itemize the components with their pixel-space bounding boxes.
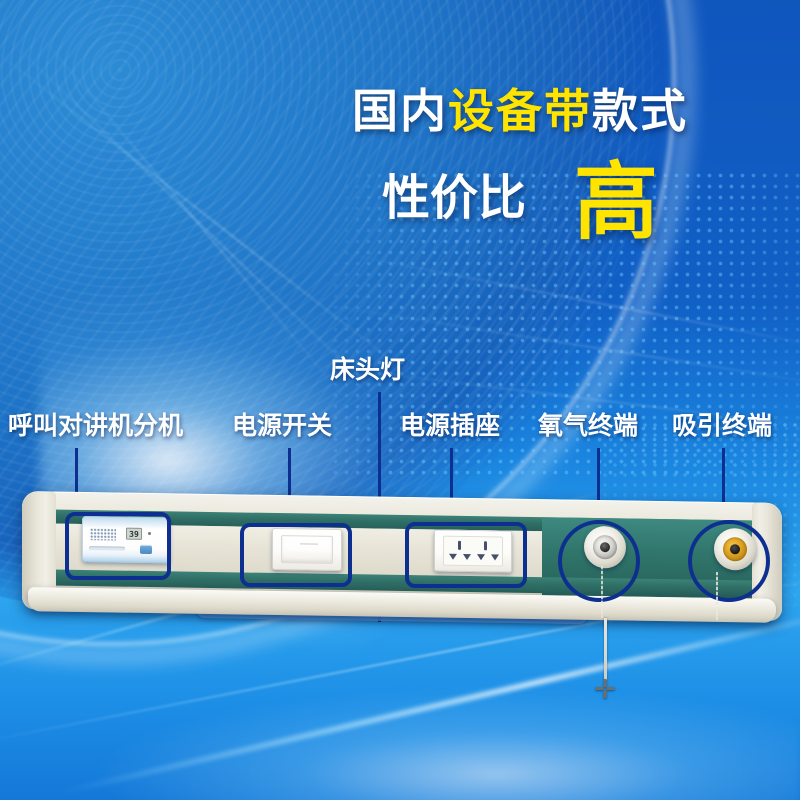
headline-line-2: 性价比 高 xyxy=(250,160,790,237)
poster-canvas: 国内设备带款式 性价比 高 呼叫对讲机分机 电源开关 床头灯 电源插座 氧气终端… xyxy=(0,0,800,800)
callout-switch: 电源开关 xyxy=(232,414,332,439)
callout-intercom: 呼叫对讲机分机 xyxy=(8,414,183,439)
highlight-box-switch xyxy=(240,523,352,587)
callout-bedlamp: 床头灯 xyxy=(330,358,405,383)
pull-cord[interactable] xyxy=(604,618,607,680)
highlight-box-intercom xyxy=(65,512,171,580)
highlight-circle-oxygen xyxy=(558,520,640,602)
pull-cord-cross-handle-icon[interactable]: ✛ xyxy=(592,676,618,702)
highlight-circle-suction xyxy=(688,520,770,602)
callout-oxygen: 氧气终端 xyxy=(538,414,638,439)
headline-subtitle: 性价比 xyxy=(382,175,526,223)
oxygen-terminal-cord-thread xyxy=(601,566,603,618)
headline-part-1: 国内 xyxy=(352,85,448,137)
headline-part-2: 款式 xyxy=(592,85,688,137)
callout-socket: 电源插座 xyxy=(400,414,500,439)
callout-suction: 吸引终端 xyxy=(672,414,772,439)
headline-highlight: 设备带 xyxy=(448,85,592,137)
headline-line-1: 国内设备带款式 xyxy=(250,88,790,134)
headline-emphasis: 高 xyxy=(574,164,658,241)
highlight-box-socket xyxy=(405,522,527,588)
suction-terminal-cord-thread xyxy=(716,572,718,620)
headline-block: 国内设备带款式 性价比 高 xyxy=(250,88,790,237)
